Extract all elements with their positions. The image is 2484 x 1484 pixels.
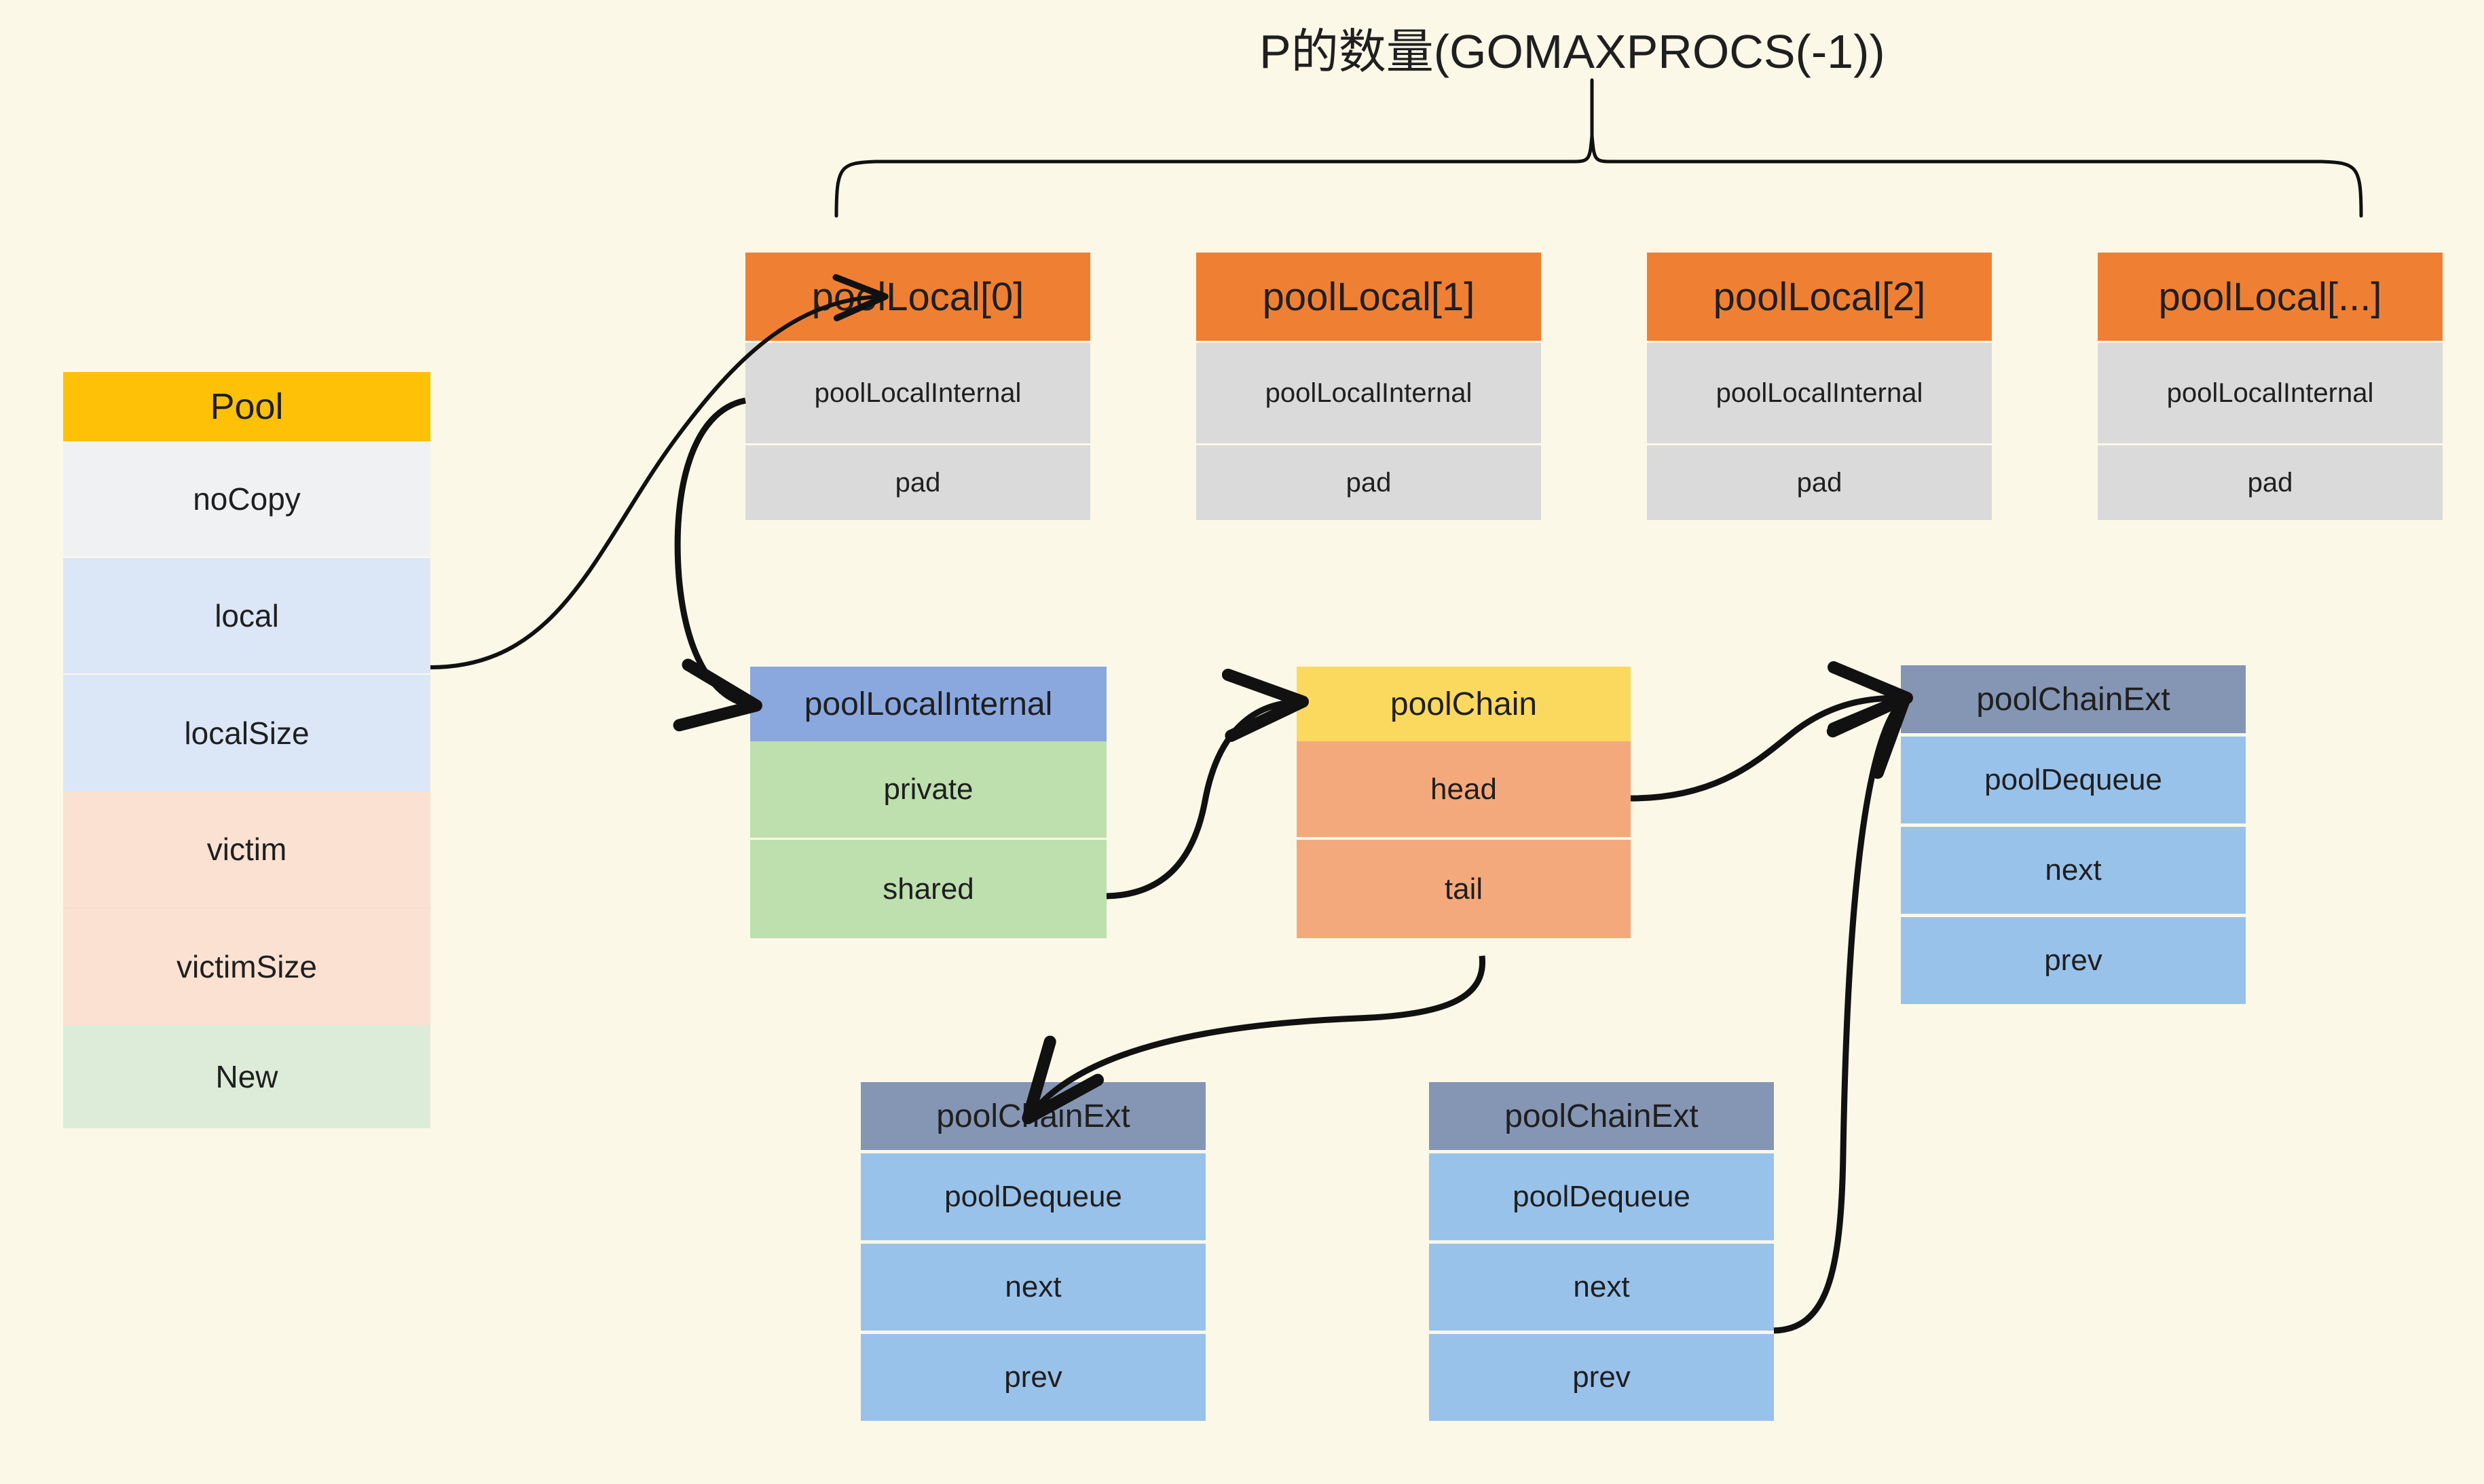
poolLocal-1-row-internal: poolLocalInternal — [1196, 343, 1541, 443]
arrow-shared-to-poolchain — [1107, 702, 1297, 896]
gomaxprocs-brace — [836, 80, 2361, 216]
pool-struct-box: Pool noCopy local localSize victim victi… — [63, 372, 430, 1128]
poolChainExt-right-box: poolChainExt poolDequeue next prev — [1901, 665, 2246, 1004]
poolLocalInternal-row-shared: shared — [750, 840, 1107, 938]
poolLocalInternal-header: poolLocalInternal — [750, 667, 1107, 741]
poolChainExt-bottom-right-row-poolDequeue: poolDequeue — [1429, 1153, 1774, 1240]
poolLocal-3-box: poolLocal[...] poolLocalInternal pad — [2098, 253, 2443, 520]
diagram-canvas: P的数量(GOMAXPROCS(-1)) Pool — [0, 0, 2484, 1484]
poolLocal-2-box: poolLocal[2] poolLocalInternal pad — [1647, 253, 1992, 520]
poolChain-box: poolChain head tail — [1297, 667, 1631, 938]
poolChain-row-head: head — [1297, 741, 1631, 840]
poolLocal-3-row-internal: poolLocalInternal — [2098, 343, 2443, 443]
pool-field-localSize: localSize — [63, 675, 430, 792]
pool-field-victimSize: victimSize — [63, 908, 430, 1025]
arrow-poollocal0-to-internal — [678, 401, 750, 705]
poolChainExt-right-header: poolChainExt — [1901, 665, 2246, 733]
poolChainExt-right-row-next: next — [1901, 827, 2246, 914]
pool-field-New: New — [63, 1025, 430, 1128]
poolLocal-0-row-pad: pad — [745, 445, 1090, 520]
poolLocal-2-row-pad: pad — [1647, 445, 1992, 520]
poolChainExt-bottom-right-header: poolChainExt — [1429, 1082, 1774, 1150]
pool-struct-header: Pool — [63, 372, 430, 441]
poolChain-row-tail: tail — [1297, 840, 1631, 938]
poolChainExt-bottom-right-box: poolChainExt poolDequeue next prev — [1429, 1082, 1774, 1421]
poolChainExt-bottom-left-header: poolChainExt — [861, 1082, 1206, 1150]
poolLocalInternal-box: poolLocalInternal private shared — [750, 667, 1107, 938]
poolChainExt-bottom-right-row-next: next — [1429, 1244, 1774, 1331]
poolLocalInternal-row-private: private — [750, 741, 1107, 840]
arrow-next-to-poolchainext-right — [1774, 703, 1901, 1331]
poolLocal-1-row-pad: pad — [1196, 445, 1541, 520]
pool-field-victim: victim — [63, 792, 430, 908]
poolLocal-2-row-internal: poolLocalInternal — [1647, 343, 1992, 443]
poolLocal-3-row-pad: pad — [2098, 445, 2443, 520]
page-title: P的数量(GOMAXPROCS(-1)) — [1259, 14, 1885, 82]
pool-field-local: local — [63, 558, 430, 675]
poolLocal-0-row-internal: poolLocalInternal — [745, 343, 1090, 443]
poolLocal-3-header: poolLocal[...] — [2098, 253, 2443, 341]
poolLocal-0-box: poolLocal[0] poolLocalInternal pad — [745, 253, 1090, 520]
poolLocal-1-header: poolLocal[1] — [1196, 253, 1541, 341]
poolLocal-1-box: poolLocal[1] poolLocalInternal pad — [1196, 253, 1541, 520]
poolLocal-2-header: poolLocal[2] — [1647, 253, 1992, 341]
poolChainExt-bottom-left-row-prev: prev — [861, 1334, 1206, 1421]
poolChainExt-bottom-left-row-next: next — [861, 1244, 1206, 1331]
poolChain-header: poolChain — [1297, 667, 1631, 741]
poolChainExt-bottom-left-box: poolChainExt poolDequeue next prev — [861, 1082, 1206, 1421]
poolLocal-0-header: poolLocal[0] — [745, 253, 1090, 341]
pool-field-noCopy: noCopy — [63, 441, 430, 558]
poolChainExt-right-row-prev: prev — [1901, 917, 2246, 1004]
poolChainExt-bottom-right-row-prev: prev — [1429, 1334, 1774, 1421]
poolChainExt-bottom-left-row-poolDequeue: poolDequeue — [861, 1153, 1206, 1240]
poolChainExt-right-row-poolDequeue: poolDequeue — [1901, 737, 2246, 823]
arrow-head-to-poolchainext — [1631, 698, 1901, 798]
